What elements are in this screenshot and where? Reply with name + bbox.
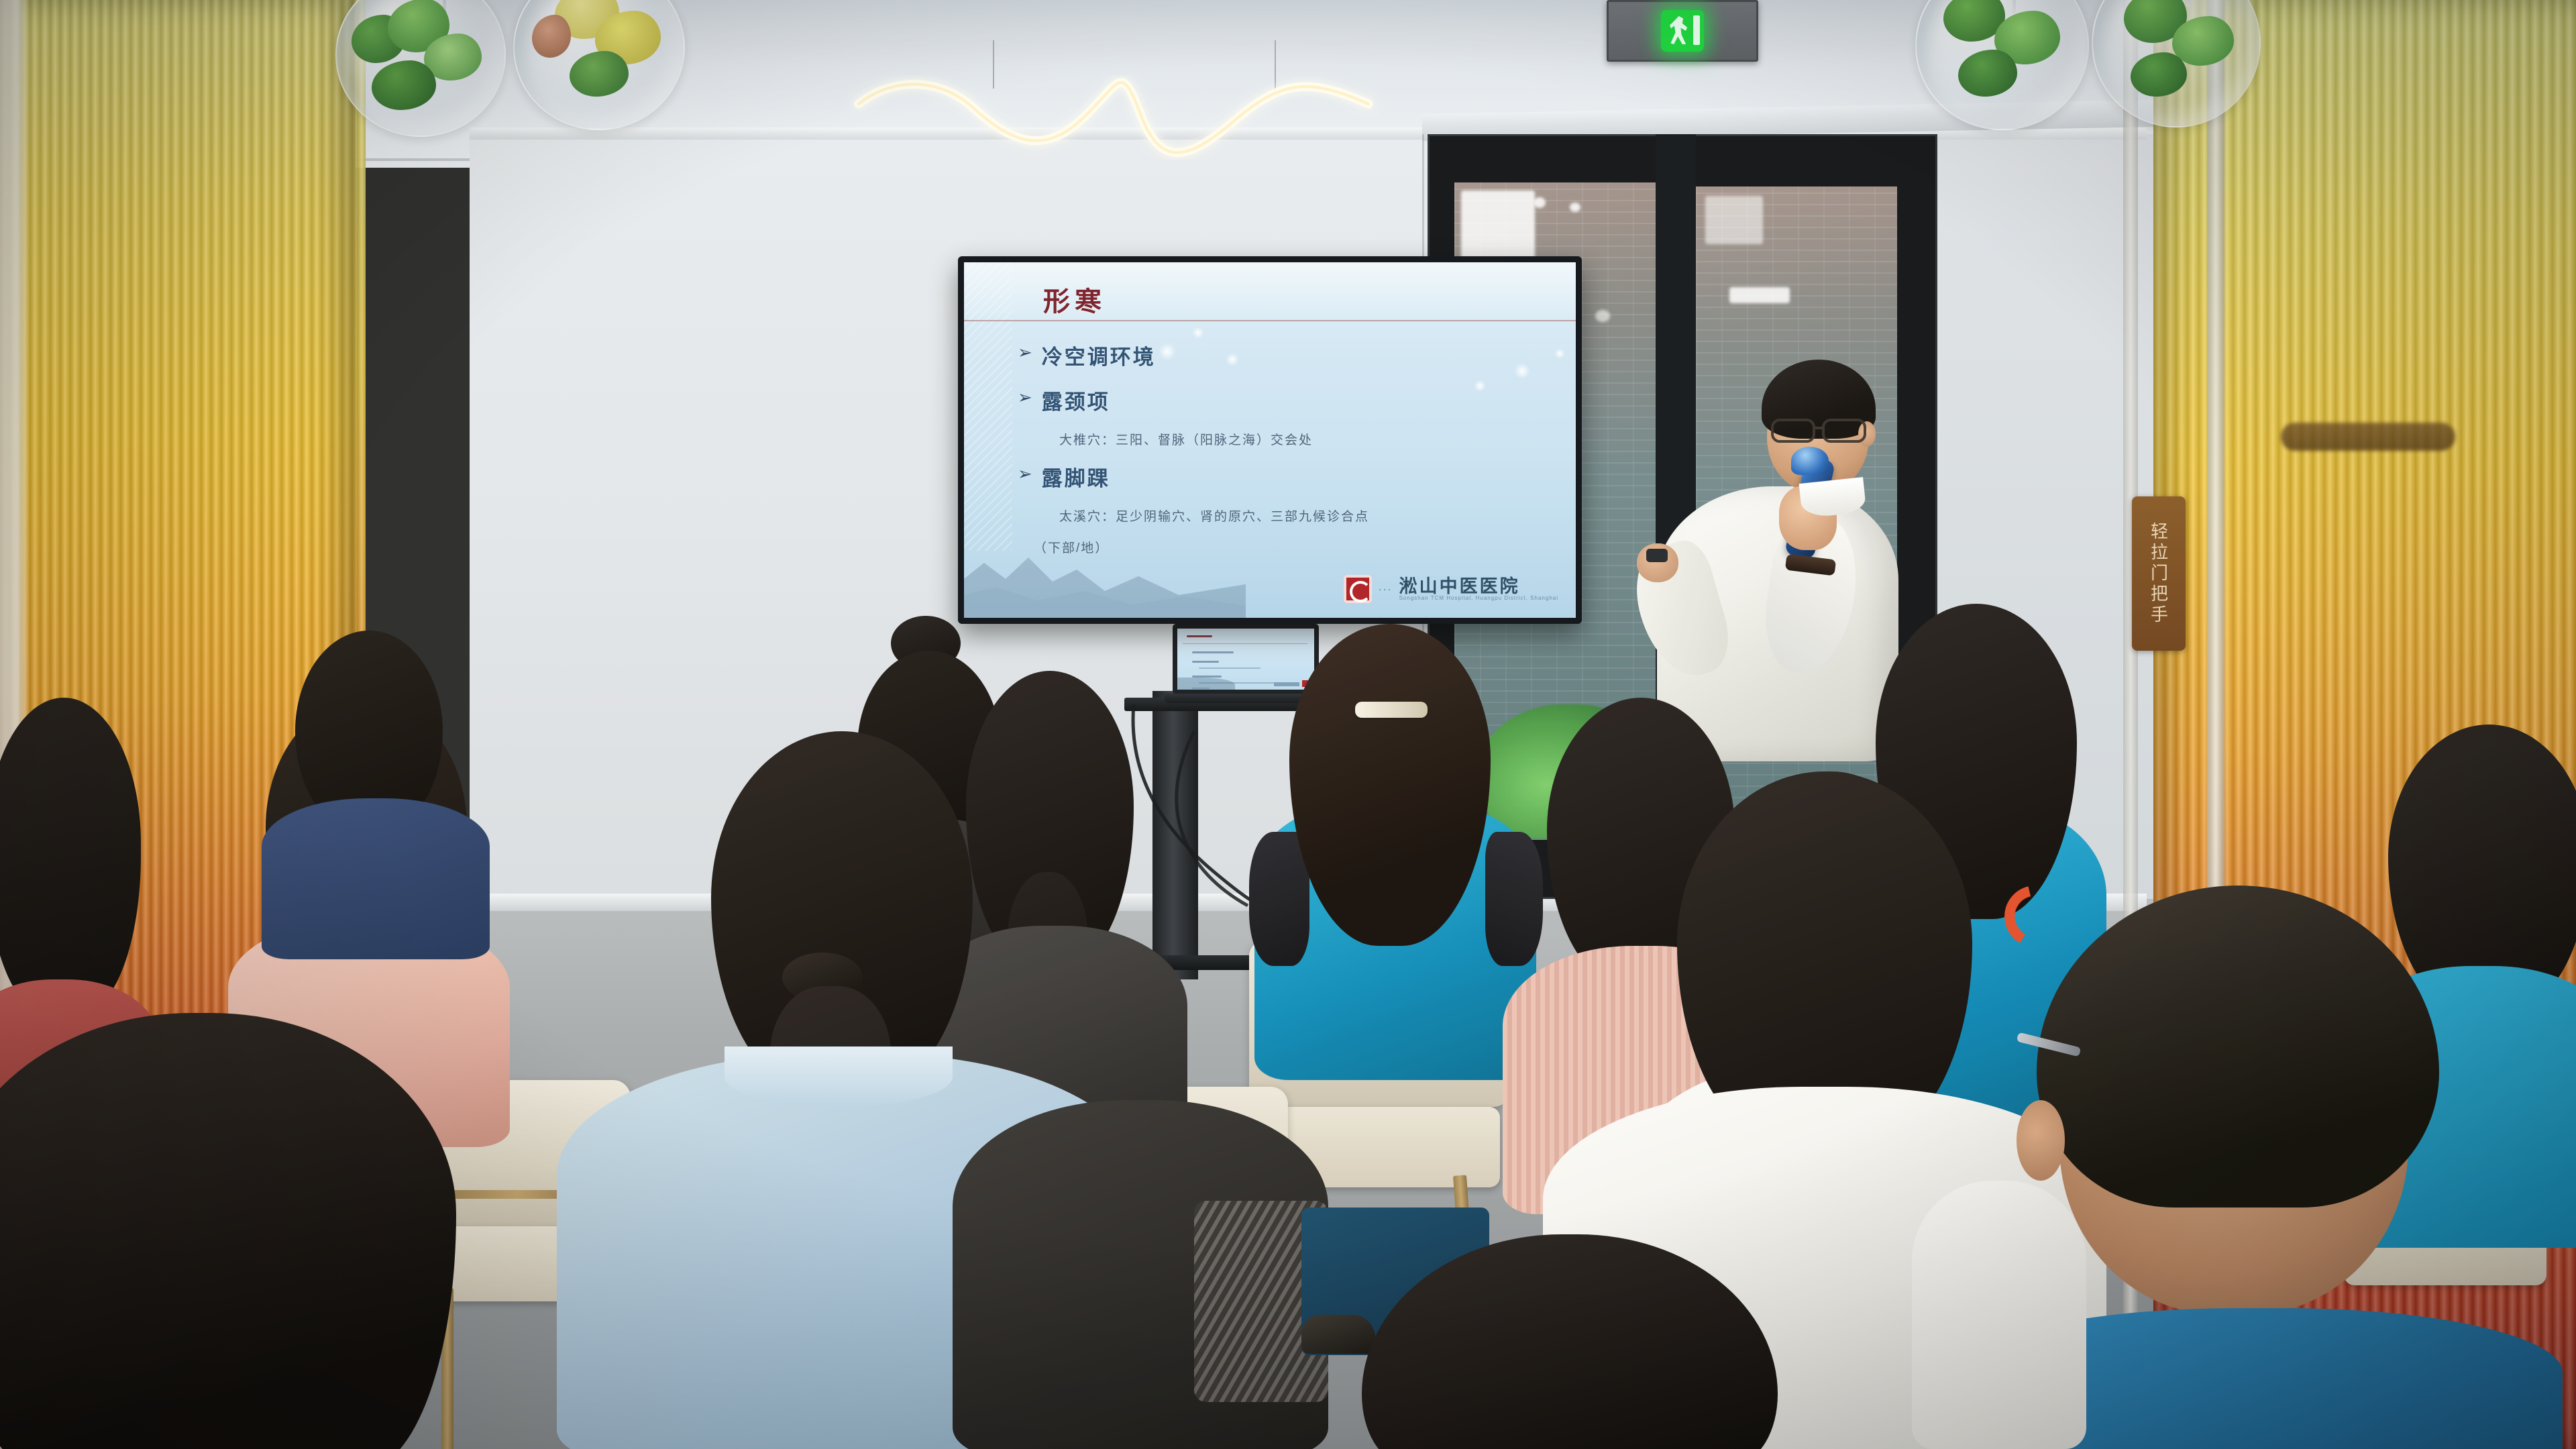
audience-member-navy-back — [268, 631, 483, 926]
slide-bullet-1-text: 冷空调环境 — [1042, 340, 1156, 370]
window-glare-3 — [1570, 203, 1580, 212]
slide-bullet-2-text: 露颈项 — [1042, 385, 1110, 415]
audience-torso — [262, 798, 490, 959]
hospital-logo-text: 淞山中医医院 Songshan TCM Hospital, Huangpu Di… — [1399, 577, 1558, 602]
slide-hatch-decor — [964, 262, 1012, 551]
slide-footer-logo: ··· 淞山中医医院 Songshan TCM Hospital, Huangp… — [1344, 575, 1558, 603]
window-glare-5 — [1729, 287, 1790, 303]
hospital-name-cn: 淞山中医医院 — [1399, 577, 1558, 596]
exit-sign — [1607, 0, 1758, 62]
audience-hair-short — [2037, 885, 2439, 1207]
lamp-tube-icon — [839, 40, 1415, 168]
slide-bokeh-2 — [1192, 327, 1204, 339]
audience-member-foreground-head — [1362, 1234, 1778, 1449]
slide-bullet-3: ➢ 露脚踝 — [1018, 462, 1549, 492]
door-sign-text: 轻拉门把手 — [2147, 522, 2171, 626]
microphone-head-icon — [1791, 447, 1829, 475]
audience-member-front-left — [0, 1013, 456, 1449]
hospital-name-en: Songshan TCM Hospital, Huangpu District,… — [1399, 596, 1558, 601]
slide-bullet-2-sub-1: 大椎穴：三阳、督脉（阳脉之海）交会处 — [1059, 430, 1549, 448]
audience-hair — [0, 1013, 456, 1449]
bullet-arrow-icon: ➢ — [1018, 465, 1032, 482]
lecture-room-photo: 轻拉门把手 — [0, 0, 2576, 1449]
door-handle[interactable] — [2281, 423, 2455, 451]
presentation-display: 形寒 ➢ 冷空调环境 ➢ 露颈项 大椎穴：三阳、督脉（阳脉之海）交会处 ➢ — [958, 256, 1582, 624]
slide-title: 形寒 — [1043, 280, 1106, 319]
audience-torso — [1912, 1181, 2086, 1449]
audience-hair — [0, 698, 141, 1013]
slide-bullet-1: ➢ 冷空调环境 — [1018, 340, 1549, 370]
window-glare-6 — [1705, 196, 1763, 244]
audience-member-bottom-right-white — [1912, 1181, 2086, 1449]
slide-canvas: 形寒 ➢ 冷空调环境 ➢ 露颈项 大椎穴：三阳、督脉（阳脉之海）交会处 ➢ — [964, 262, 1576, 618]
slide-title-rule — [964, 320, 1576, 321]
hospital-logo-mark-icon — [1344, 575, 1372, 603]
slide-bullet-3-sub-1: 太溪穴：足少阴输穴、肾的原穴、三部九候诊合点 — [1059, 506, 1549, 525]
audience-hair — [1362, 1234, 1778, 1449]
logo-dots: ··· — [1379, 584, 1393, 595]
window-glare-2 — [1534, 197, 1546, 208]
presenter-clicker[interactable] — [1646, 549, 1668, 562]
slide-bullet-3-text: 露脚踝 — [1042, 462, 1110, 492]
door-instruction-sign: 轻拉门把手 — [2132, 496, 2186, 651]
bullet-arrow-icon: ➢ — [1018, 388, 1032, 406]
shirt-collar — [724, 1046, 953, 1107]
bullet-arrow-icon: ➢ — [1018, 343, 1032, 361]
slide-bullet-list: ➢ 冷空调环境 ➢ 露颈项 大椎穴：三阳、督脉（阳脉之海）交会处 ➢ 露脚踝 太… — [1018, 340, 1549, 556]
window-glare-4 — [1595, 310, 1610, 322]
running-person-icon — [1661, 10, 1704, 52]
slide-bullet-2: ➢ 露颈项 — [1018, 385, 1549, 415]
pendant-lamp — [839, 40, 1415, 168]
slide-bokeh-5 — [1554, 348, 1565, 359]
slide-mountain-decor — [964, 537, 1246, 618]
presenter-glasses-icon — [1768, 415, 1876, 445]
audience-ear — [2017, 1100, 2065, 1181]
